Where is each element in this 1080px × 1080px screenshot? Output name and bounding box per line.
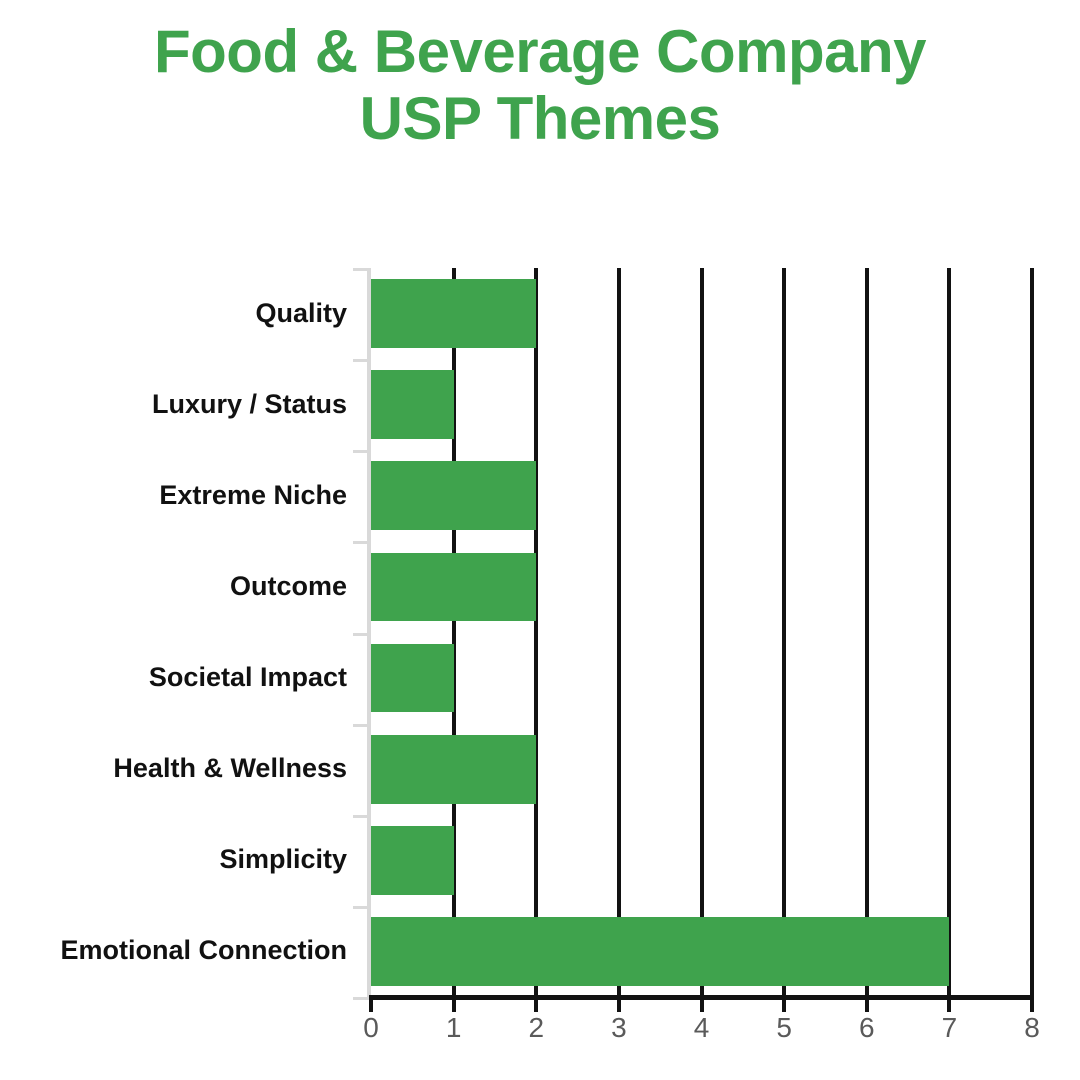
bar-health-wellness[interactable] [371, 735, 536, 804]
x-axis-label-8: 8 [1002, 1014, 1062, 1042]
x-axis-line [369, 995, 1034, 1000]
bar-societal-impact[interactable] [371, 644, 454, 713]
category-label-outcome: Outcome [230, 573, 347, 600]
gridline-4 [700, 268, 704, 997]
y-tick-4 [353, 633, 369, 636]
bar-emotional-connection[interactable] [371, 917, 949, 986]
gridline-5 [782, 268, 786, 997]
x-tick-7 [947, 999, 951, 1012]
category-label-luxury-status: Luxury / Status [152, 391, 347, 418]
x-axis-label-4: 4 [672, 1014, 732, 1042]
x-axis-label-6: 6 [837, 1014, 897, 1042]
x-axis-label-5: 5 [754, 1014, 814, 1042]
x-tick-2 [534, 999, 538, 1012]
category-label-extreme-niche: Extreme Niche [159, 482, 347, 509]
category-label-simplicity: Simplicity [219, 846, 347, 873]
category-label-health-wellness: Health & Wellness [113, 755, 347, 782]
x-tick-0 [369, 999, 373, 1012]
bar-simplicity[interactable] [371, 826, 454, 895]
bar-outcome[interactable] [371, 553, 536, 622]
x-tick-8 [1030, 999, 1034, 1012]
y-tick-5 [353, 724, 369, 727]
category-label-emotional-connection: Emotional Connection [61, 937, 348, 964]
bar-luxury-status[interactable] [371, 370, 454, 439]
gridline-6 [865, 268, 869, 997]
x-tick-3 [617, 999, 621, 1012]
y-tick-end [353, 997, 369, 1000]
gridline-2 [534, 268, 538, 997]
gridline-7 [947, 268, 951, 997]
y-tick-7 [353, 906, 369, 909]
x-tick-6 [865, 999, 869, 1012]
plot-area [371, 268, 1032, 997]
x-tick-5 [782, 999, 786, 1012]
y-tick-1 [353, 359, 369, 362]
x-axis-label-0: 0 [341, 1014, 401, 1042]
x-tick-4 [700, 999, 704, 1012]
bar-quality[interactable] [371, 279, 536, 348]
y-tick-0 [353, 268, 369, 271]
x-tick-1 [452, 999, 456, 1012]
x-axis-label-1: 1 [424, 1014, 484, 1042]
y-tick-2 [353, 450, 369, 453]
bar-extreme-niche[interactable] [371, 461, 536, 530]
x-axis-label-7: 7 [919, 1014, 979, 1042]
gridline-8 [1030, 268, 1034, 997]
category-label-quality: Quality [255, 300, 347, 327]
y-tick-3 [353, 541, 369, 544]
x-axis-label-2: 2 [506, 1014, 566, 1042]
gridline-3 [617, 268, 621, 997]
y-tick-6 [353, 815, 369, 818]
x-axis-label-3: 3 [589, 1014, 649, 1042]
y-axis-category-labels: QualityLuxury / StatusExtreme NicheOutco… [0, 0, 347, 1080]
category-label-societal-impact: Societal Impact [149, 664, 347, 691]
